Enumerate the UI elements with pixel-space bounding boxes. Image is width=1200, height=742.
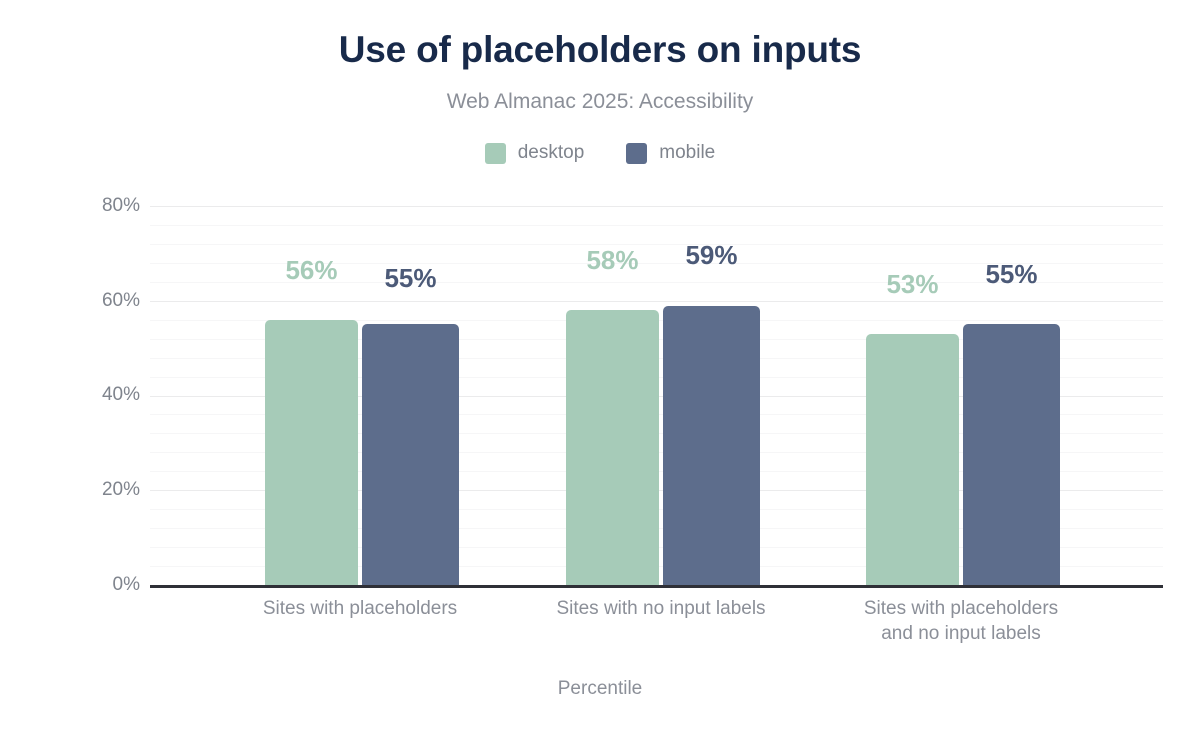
- y-tick-label-60: 60%: [88, 290, 140, 312]
- x-tick-label-2-line2: and no input labels: [881, 623, 1041, 644]
- x-axis-line: [150, 585, 1163, 588]
- x-tick-label-2: Sites with placeholders and no input lab…: [796, 596, 1126, 646]
- bar-desktop-group2[interactable]: [866, 334, 959, 585]
- legend-item-desktop[interactable]: desktop: [485, 142, 585, 164]
- y-tick-label-40: 40%: [88, 384, 140, 406]
- legend-swatch-desktop-icon: [485, 143, 506, 164]
- legend-label-desktop: desktop: [518, 142, 585, 164]
- legend-item-mobile[interactable]: mobile: [626, 142, 715, 164]
- x-tick-label-0: Sites with placeholders: [195, 596, 525, 621]
- x-axis-title: Percentile: [0, 678, 1200, 700]
- legend-swatch-mobile-icon: [626, 143, 647, 164]
- bar-value-desktop-group0: 56%: [265, 255, 358, 286]
- x-tick-label-1-line1: Sites with no input labels: [556, 598, 765, 619]
- x-tick-label-1: Sites with no input labels: [496, 596, 826, 621]
- chart-subtitle: Web Almanac 2025: Accessibility: [0, 90, 1200, 114]
- y-tick-label-0: 0%: [88, 574, 140, 596]
- x-tick-label-2-line1: Sites with placeholders: [864, 598, 1058, 619]
- y-tick-label-20: 20%: [88, 479, 140, 501]
- bar-desktop-group0[interactable]: [265, 320, 358, 585]
- bar-mobile-group0[interactable]: [362, 324, 459, 585]
- chart-title: Use of placeholders on inputs: [0, 30, 1200, 71]
- bar-mobile-group1[interactable]: [663, 306, 760, 586]
- bar-value-mobile-group0: 55%: [362, 263, 459, 294]
- x-tick-label-0-line1: Sites with placeholders: [263, 598, 457, 619]
- legend-label-mobile: mobile: [659, 142, 715, 164]
- bar-value-mobile-group2: 55%: [963, 259, 1060, 290]
- y-tick-label-80: 80%: [88, 195, 140, 217]
- bar-value-desktop-group2: 53%: [866, 269, 959, 300]
- bar-mobile-group2[interactable]: [963, 324, 1060, 585]
- bar-desktop-group1[interactable]: [566, 310, 659, 585]
- bar-value-desktop-group1: 58%: [566, 245, 659, 276]
- chart-legend: desktop mobile: [0, 142, 1200, 164]
- bar-value-mobile-group1: 59%: [663, 240, 760, 271]
